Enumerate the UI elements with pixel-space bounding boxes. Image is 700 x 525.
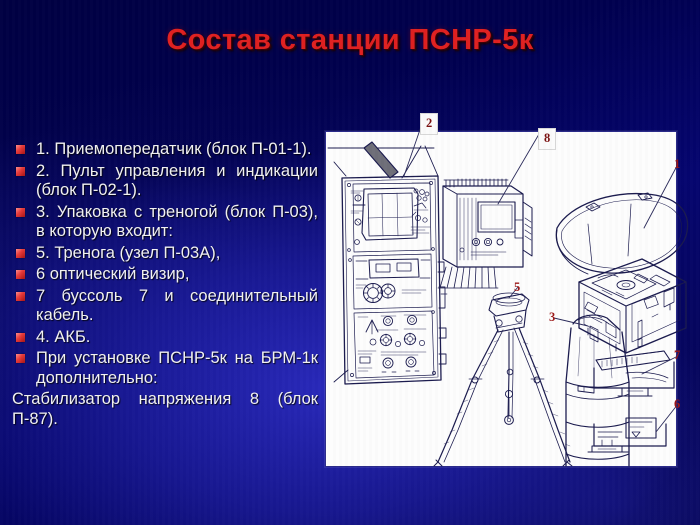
list-item: 1. Приемопередатчик (блок П-01-1).: [6, 140, 318, 160]
callout-label-7: 7: [674, 349, 680, 362]
list-item: 7 буссоль 7 и соединительный кабель.: [6, 287, 318, 326]
list-item-text: 3. Упаковка с треногой (блок П-03), в ко…: [36, 203, 318, 242]
carrying-case: [556, 193, 687, 353]
callout-label-5: 5: [514, 281, 520, 294]
equipment-diagram-panel: [325, 131, 677, 467]
bullet-square-icon: [16, 333, 25, 342]
list-item: При установке ПСНР-5к на БРМ-1к дополнит…: [6, 349, 318, 388]
control-panel: [342, 142, 447, 384]
slide-root: Состав станции ПСНР-5к 1. Приемопередатч…: [0, 0, 700, 525]
bullet-square-icon: [16, 354, 25, 363]
list-item-text: При установке ПСНР-5к на БРМ-1к дополнит…: [36, 349, 318, 388]
equipment-diagram-svg: [326, 132, 676, 466]
list-item-text: 4. АКБ.: [36, 328, 318, 348]
electronics-module: [438, 179, 532, 288]
bullet-square-icon: [16, 249, 25, 258]
list-item: 2. Пульт управления и индикации (блок П-…: [6, 162, 318, 201]
list-item-text: 1. Приемопередатчик (блок П-01-1).: [36, 140, 318, 160]
rotary-selector: [364, 284, 396, 303]
list-item: 4. АКБ.: [6, 328, 318, 348]
page-title: Состав станции ПСНР-5к: [0, 24, 700, 57]
callout-label-8: 8: [538, 128, 556, 150]
optical-sight: [594, 351, 674, 396]
callout-label-6: 6: [674, 398, 680, 411]
bullet-square-icon: [16, 292, 25, 301]
list-item: 3. Упаковка с треногой (блок П-03), в ко…: [6, 203, 318, 242]
list-item-text: 6 оптический визир,: [36, 265, 318, 285]
callout-label-2: 2: [420, 113, 438, 135]
callout-label-1: 1: [674, 158, 680, 171]
bullet-square-icon: [16, 145, 25, 154]
list-item: 5. Тренога (узел П-03А),: [6, 244, 318, 264]
bullet-square-icon: [16, 167, 25, 176]
callout-label-3: 3: [549, 311, 555, 324]
content-bullet-list: 1. Приемопередатчик (блок П-01-1). 2. Пу…: [6, 140, 318, 431]
list-item: 6 оптический визир,: [6, 265, 318, 285]
bullet-square-icon: [16, 208, 25, 217]
list-item: Стабилизатор напряжения 8 (блок П-87).: [6, 390, 318, 429]
bullet-square-icon: [16, 270, 25, 279]
list-item-text: Стабилизатор напряжения 8 (блок П-87).: [12, 390, 318, 429]
list-item-text: 2. Пульт управления и индикации (блок П-…: [36, 162, 318, 201]
list-item-text: 5. Тренога (узел П-03А),: [36, 244, 318, 264]
list-item-text: 7 буссоль 7 и соединительный кабель.: [36, 287, 318, 326]
